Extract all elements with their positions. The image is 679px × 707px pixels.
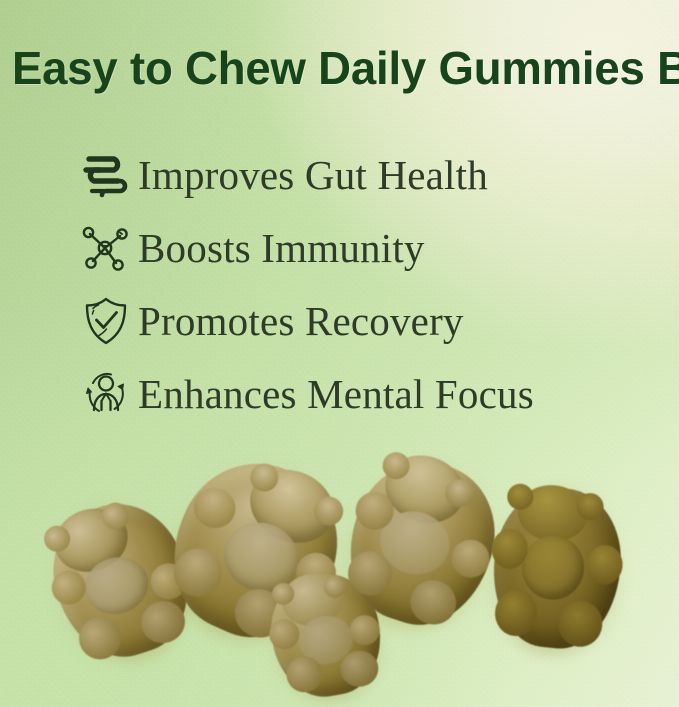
product-poster: Easy to Chew Daily Gummies Bear Improves… (0, 0, 679, 707)
feature-label: Boosts Immunity (138, 224, 425, 272)
page-title: Easy to Chew Daily Gummies Bear (12, 42, 665, 94)
intestine-icon (80, 149, 138, 201)
feature-list: Improves Gut Health (80, 138, 676, 430)
feature-label: Enhances Mental Focus (138, 370, 534, 418)
feature-label: Promotes Recovery (138, 297, 464, 345)
gummy-bears-photo (0, 448, 679, 707)
feature-label: Improves Gut Health (138, 151, 488, 199)
person-cycle-icon (80, 368, 138, 420)
molecule-icon (80, 222, 138, 274)
gummy-bear (486, 482, 628, 654)
shield-check-icon (80, 295, 138, 347)
feature-item-recovery: Promotes Recovery (80, 284, 676, 357)
feature-item-mental-focus: Enhances Mental Focus (80, 357, 676, 430)
feature-item-immunity: Boosts Immunity (80, 211, 676, 284)
feature-item-gut-health: Improves Gut Health (80, 138, 676, 211)
